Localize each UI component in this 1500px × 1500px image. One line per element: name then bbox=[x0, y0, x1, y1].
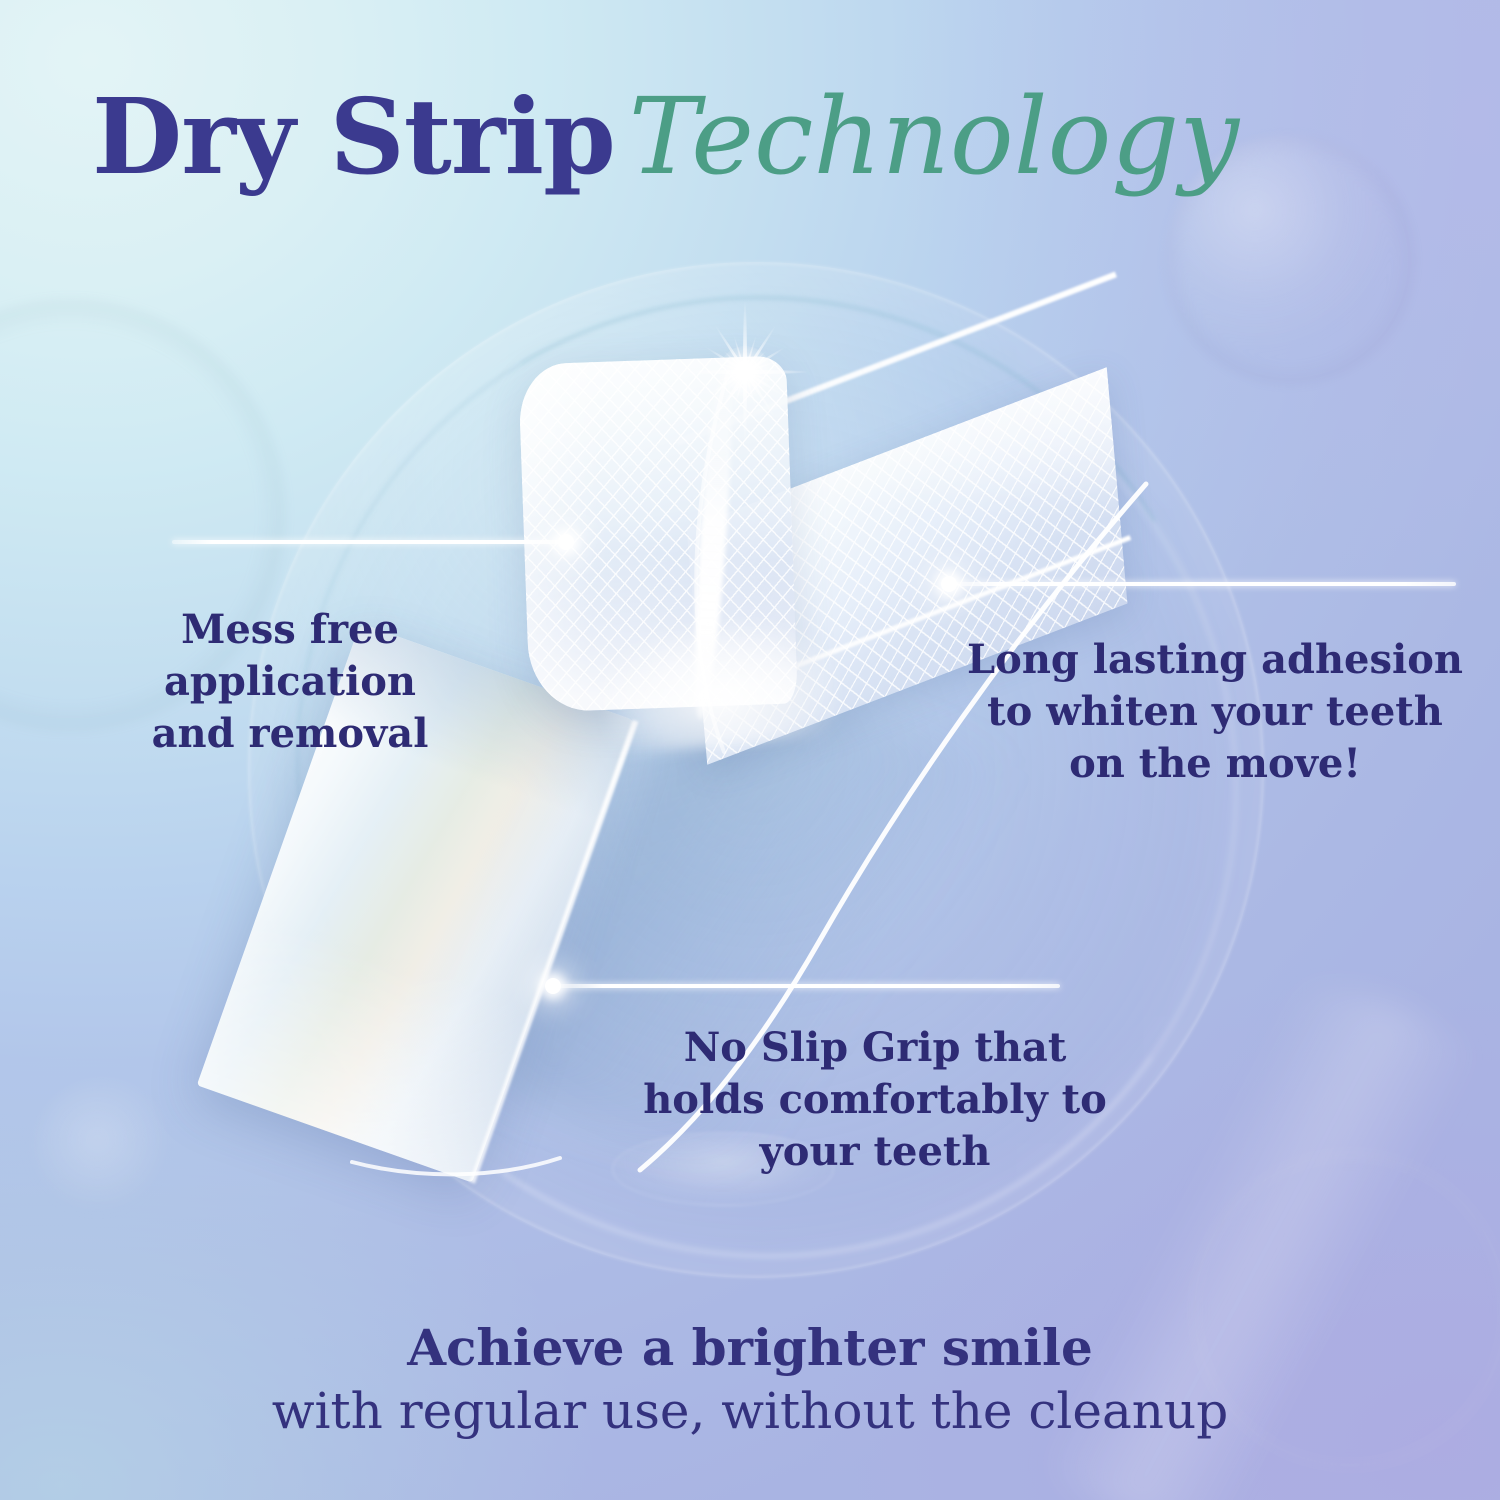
leader-dot-bottom bbox=[545, 978, 561, 994]
callout-no-slip-grip: No Slip Grip that holds comfortably to y… bbox=[640, 1022, 1110, 1178]
leader-line-bottom bbox=[552, 984, 1060, 988]
title-part-primary: Dry Strip bbox=[92, 75, 615, 198]
leader-dot-left bbox=[558, 534, 574, 550]
leader-dot-right bbox=[941, 576, 957, 592]
infographic-canvas: Dry StripTechnology Mess free applicatio… bbox=[0, 0, 1500, 1500]
title-part-secondary: Technology bbox=[629, 75, 1239, 198]
callout-long-lasting: Long lasting adhesion to whiten your tee… bbox=[960, 634, 1470, 790]
page-title: Dry StripTechnology bbox=[92, 84, 1422, 190]
leader-line-right bbox=[948, 582, 1456, 586]
callout-mess-free: Mess free application and removal bbox=[120, 604, 460, 760]
tagline-line-1: Achieve a brighter smile bbox=[0, 1320, 1500, 1376]
tagline-line-2: with regular use, without the cleanup bbox=[0, 1382, 1500, 1441]
leader-line-left bbox=[172, 540, 564, 544]
footer-tagline: Achieve a brighter smile with regular us… bbox=[0, 1320, 1500, 1441]
